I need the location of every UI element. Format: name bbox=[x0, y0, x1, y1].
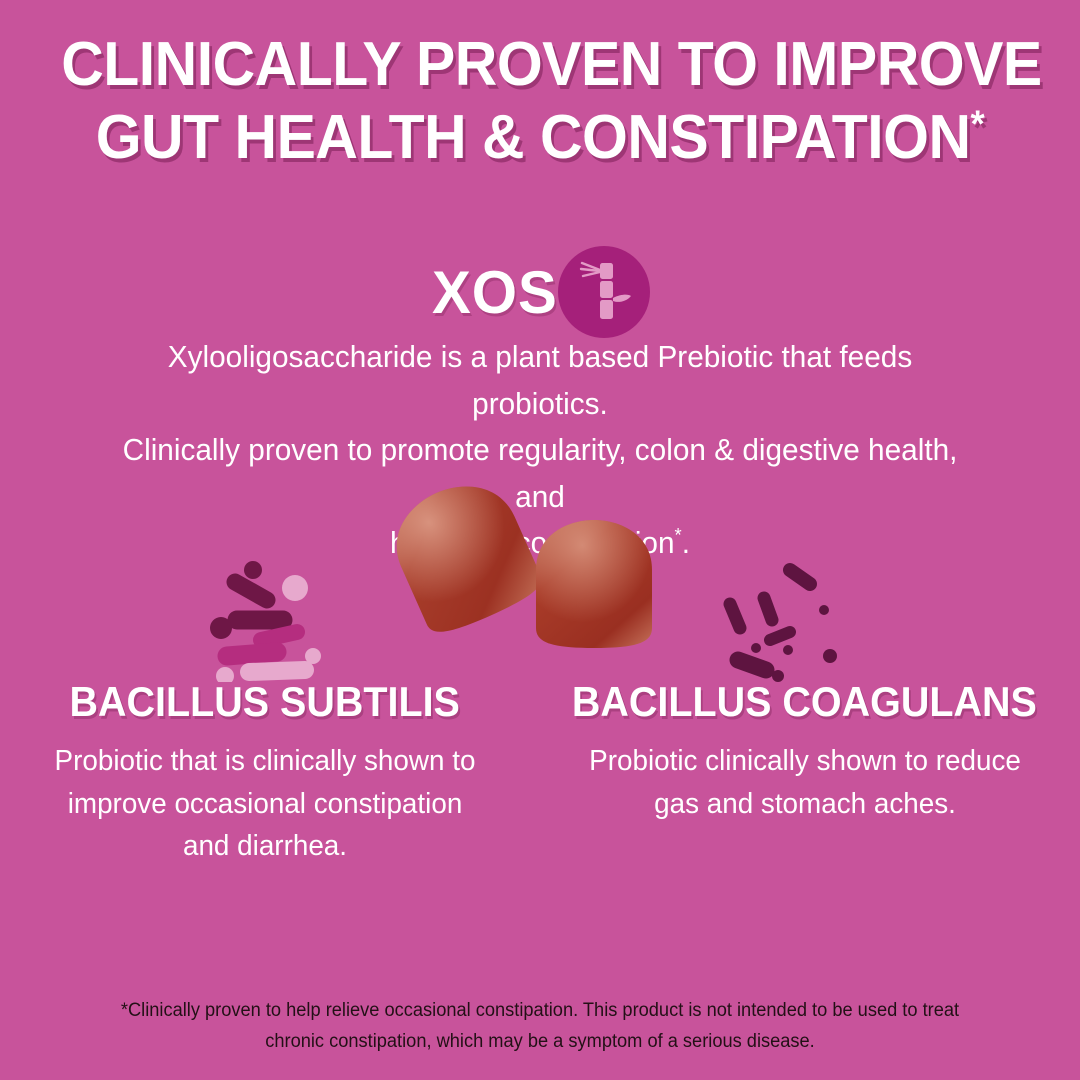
xos-description-line-1: Xylooligosaccharide is a plant based Pre… bbox=[168, 339, 912, 421]
bacteria-cluster-coagulans bbox=[712, 552, 862, 682]
headline-line-2: GUT HEALTH & CONSTIPATION* bbox=[61, 101, 1019, 174]
gummy-right bbox=[536, 520, 652, 648]
benefit-column-subtilis: BACILLUS SUBTILIS Probiotic that is clin… bbox=[0, 678, 529, 868]
benefit-title-subtilis: BACILLUS SUBTILIS bbox=[42, 678, 487, 726]
product-image-gummies bbox=[370, 480, 710, 660]
infographic-canvas: CLINICALLY PROVEN TO IMPROVE GUT HEALTH … bbox=[0, 0, 1080, 1080]
benefit-column-coagulans: BACILLUS COAGULANS Probiotic clinically … bbox=[529, 678, 1080, 868]
footnote-line-2: constipation, which may be a symptom of … bbox=[329, 1031, 815, 1052]
benefit-body-subtilis: Probiotic that is clinically shown to im… bbox=[49, 740, 481, 868]
headline-line-2-text: GUT HEALTH & CONSTIPATION bbox=[96, 103, 971, 172]
headline-asterisk: * bbox=[971, 103, 985, 146]
bamboo-icon bbox=[574, 258, 634, 326]
page-title: CLINICALLY PROVEN TO IMPROVE GUT HEALTH … bbox=[27, 28, 1053, 174]
benefit-columns: BACILLUS SUBTILIS Probiotic that is clin… bbox=[0, 678, 1080, 868]
benefit-body-coagulans: Probiotic clinically shown to reduce gas… bbox=[579, 740, 1030, 825]
xos-logo-row: XOS bbox=[0, 246, 1080, 338]
xos-wordmark: XOS bbox=[432, 258, 558, 327]
gummy-left bbox=[380, 480, 548, 641]
benefit-title-coagulans: BACILLUS COAGULANS bbox=[572, 678, 1037, 726]
legal-footnote: *Clinically proven to help relieve occas… bbox=[94, 996, 987, 1058]
headline-line-1: CLINICALLY PROVEN TO IMPROVE bbox=[61, 28, 1019, 101]
xos-badge bbox=[558, 246, 650, 338]
bacteria-cluster-subtilis bbox=[205, 552, 355, 682]
